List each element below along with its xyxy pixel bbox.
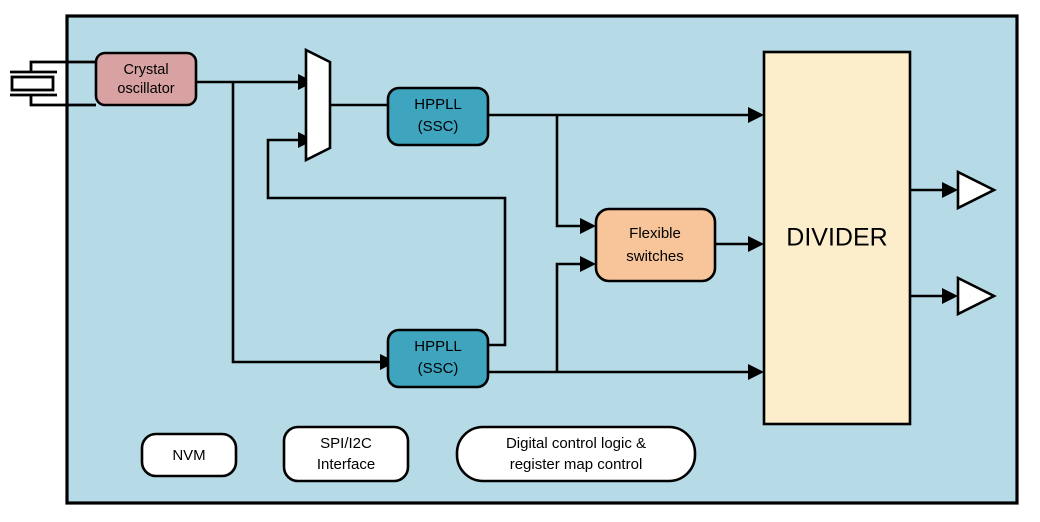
nvm-block[interactable]: NVM — [142, 434, 236, 476]
spi-i2c-interface-label-line2: Interface — [317, 456, 375, 473]
crystal-oscillator-label-line2: oscillator — [117, 81, 174, 97]
hppll-bottom-label-line1: HPPLL — [414, 338, 462, 355]
digital-control-logic-block[interactable]: Digital control logic & register map con… — [457, 427, 695, 481]
block-diagram-canvas: DIVIDER Crystal oscillator HPPLL (SSC) H… — [0, 0, 1040, 522]
flexible-switches-shape[interactable] — [596, 209, 715, 281]
hppll-bottom-label-line2: (SSC) — [418, 360, 459, 377]
crystal-oscillator-block[interactable]: Crystal oscillator — [96, 53, 196, 105]
input-mux[interactable] — [306, 50, 330, 160]
flexible-switches-label-line2: switches — [626, 248, 684, 265]
diagram-svg: DIVIDER Crystal oscillator HPPLL (SSC) H… — [0, 0, 1040, 522]
digital-control-logic-label-line2: register map control — [510, 456, 643, 473]
nvm-label: NVM — [172, 447, 205, 464]
divider-block[interactable]: DIVIDER — [764, 52, 910, 424]
crystal-oscillator-label-line1: Crystal — [123, 62, 168, 78]
hppll-top-label-line2: (SSC) — [418, 118, 459, 135]
digital-control-logic-label-line1: Digital control logic & — [506, 435, 646, 452]
divider-label: DIVIDER — [786, 224, 887, 252]
input-mux-shape[interactable] — [306, 50, 330, 160]
flexible-switches-block[interactable]: Flexible switches — [596, 209, 715, 281]
crystal-oscillator-shape[interactable] — [96, 53, 196, 105]
spi-i2c-interface-label-line1: SPI/I2C — [320, 435, 372, 452]
hppll-top-label-line1: HPPLL — [414, 96, 462, 113]
hppll-top-block[interactable]: HPPLL (SSC) — [388, 88, 488, 145]
flexible-switches-label-line1: Flexible — [629, 225, 681, 242]
spi-i2c-interface-block[interactable]: SPI/I2C Interface — [284, 427, 408, 481]
hppll-bottom-block[interactable]: HPPLL (SSC) — [388, 330, 488, 387]
